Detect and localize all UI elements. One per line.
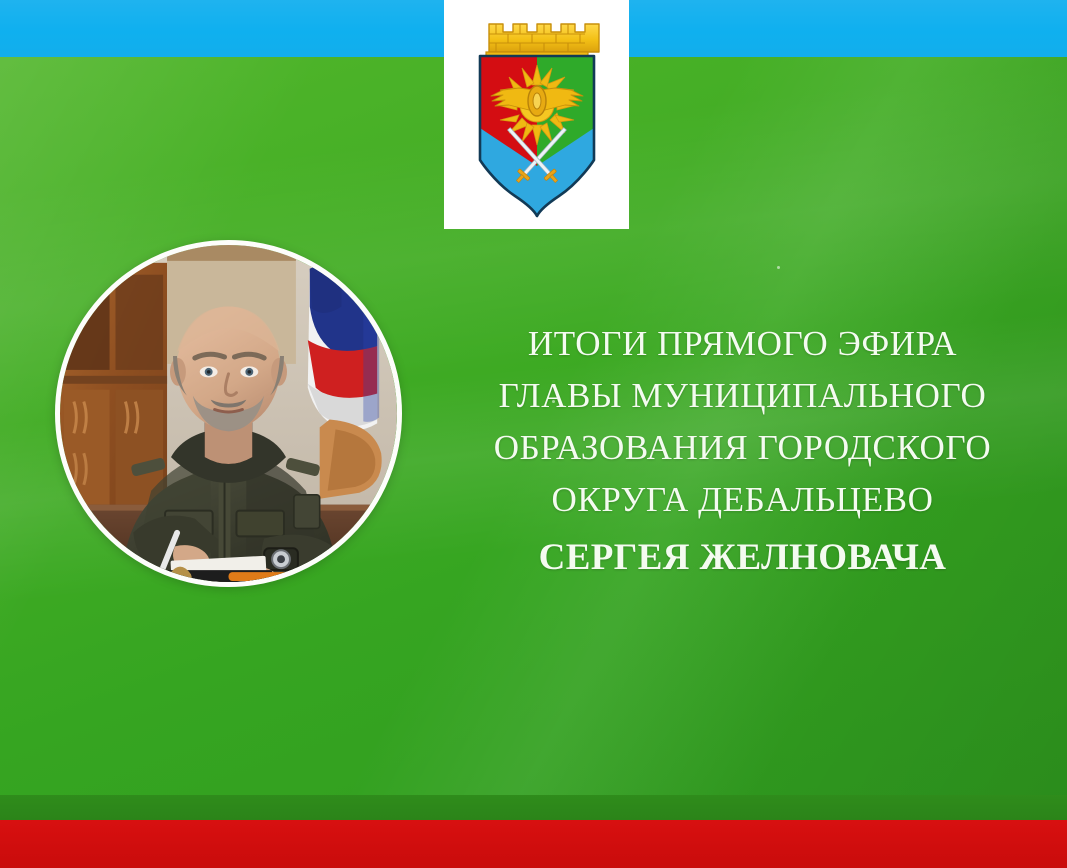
headline-line-1: ИТОГИ ПРЯМОГО ЭФИРА	[470, 318, 1015, 370]
coat-of-arms-panel	[444, 0, 629, 229]
headline-line-3: ОБРАЗОВАНИЯ ГОРОДСКОГО	[470, 422, 1015, 474]
footer-red-band	[0, 820, 1067, 868]
poster-root: ИТОГИ ПРЯМОГО ЭФИРА ГЛАВЫ МУНИЦИПАЛЬНОГО…	[0, 0, 1067, 868]
portrait-photo	[60, 245, 397, 582]
mural-crown-icon	[486, 24, 599, 57]
footer-green-band	[0, 795, 1067, 820]
coat-of-arms-icon	[462, 10, 612, 222]
avatar	[55, 240, 402, 587]
headline-line-2: ГЛАВЫ МУНИЦИПАЛЬНОГО	[470, 370, 1015, 422]
headline-person-name: СЕРГЕЯ ЖЕЛНОВАЧА	[470, 526, 1015, 584]
decorative-speck	[777, 266, 780, 269]
page-title: ИТОГИ ПРЯМОГО ЭФИРА ГЛАВЫ МУНИЦИПАЛЬНОГО…	[470, 318, 1015, 584]
headline-line-4: ОКРУГА ДЕБАЛЬЦЕВО	[470, 474, 1015, 526]
